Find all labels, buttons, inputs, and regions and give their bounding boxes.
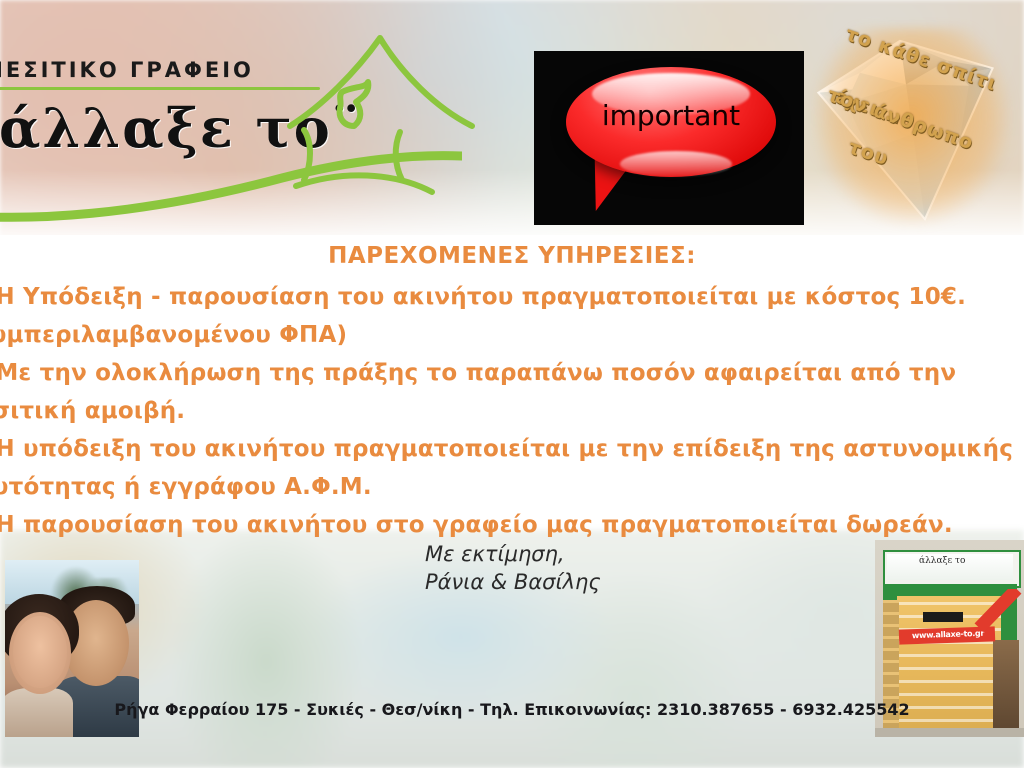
signature-block: Με εκτίμηση, Ράνια & Βασίλης <box>425 540 725 596</box>
shop-black-tag <box>923 612 963 622</box>
logo-underline <box>0 87 320 90</box>
signature-line-2: Ράνια & Βασίλης <box>425 568 725 596</box>
services-title: ΠΑΡΕΧΟΜΕΝΕΣ ΥΠΗΡΕΣΙΕΣ: <box>0 243 1024 269</box>
important-label: important <box>566 99 776 132</box>
bubble-highlight-bottom <box>620 151 732 177</box>
shop-sign-label: άλλαξε το <box>919 556 965 566</box>
contact-footer: Ρήγα Φερραίου 175 - Συκιές - Θεσ/νίκη - … <box>0 700 1024 719</box>
diamond-badge: το κάθε σπίτι έχει... τον άνθρωπο του <box>806 24 1018 230</box>
shop-floor <box>875 728 1024 737</box>
service-line: ταυτότητας ή εγγράφου Α.Φ.Μ. <box>0 468 1024 506</box>
service-line: 3. Η υπόδειξη του ακινήτου πραγματοποιεί… <box>0 430 1024 468</box>
footer-address: Ρήγα Φερραίου 175 - Συκιές - Θεσ/νίκη - … <box>114 700 657 719</box>
footer-phones[interactable]: 2310.387655 - 6932.425542 <box>657 700 910 719</box>
service-line: 2. Με την ολοκλήρωση της πράξης το παραπ… <box>0 354 1024 392</box>
signature-line-1: Με εκτίμηση, <box>425 540 725 568</box>
important-badge[interactable]: important <box>534 51 804 225</box>
shop-sign-trim <box>883 584 1017 589</box>
service-line: (συμπεριλαμβανομένου ΦΠΑ) <box>0 316 1024 354</box>
poster-canvas: ΜΕΣΙΤΙΚΟ ΓΡΑΦΕΙΟ ¨άλλαξε το¨ important <box>0 0 1024 768</box>
services-list: 1. Η Υπόδειξη - παρουσίαση του ακινήτου … <box>0 278 1024 544</box>
service-line: 4. Η παρουσίαση του ακινήτου στο γραφείο… <box>0 506 1024 544</box>
service-line: μεσιτική αμοιβή. <box>0 392 1024 430</box>
photo-person-face <box>13 616 67 688</box>
service-line: 1. Η Υπόδειξη - παρουσίαση του ακινήτου … <box>0 278 1024 316</box>
logo-subtitle: ΜΕΣΙΤΙΚΟ ΓΡΑΦΕΙΟ <box>0 58 254 82</box>
brand-logo: ΜΕΣΙΤΙΚΟ ΓΡΑΦΕΙΟ ¨άλλαξε το¨ <box>0 38 442 208</box>
logo-swoosh <box>0 138 462 228</box>
